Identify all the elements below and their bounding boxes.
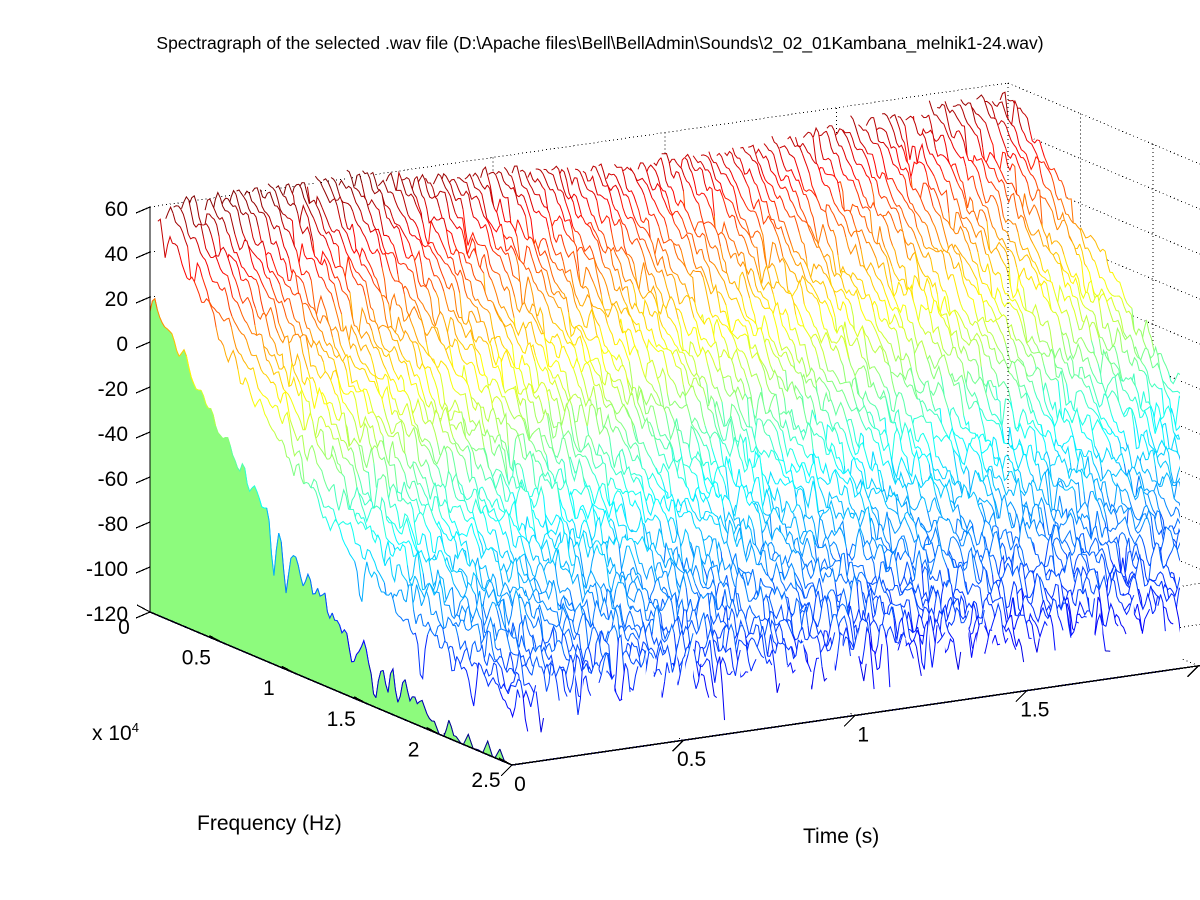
- time-tick-label: 0: [514, 773, 526, 796]
- time-axis-title: Time (s): [803, 825, 879, 849]
- frequency-tick-label: 0: [118, 616, 130, 639]
- frequency-tick-label: 1: [263, 677, 275, 700]
- z-tick-label: 40: [105, 243, 128, 266]
- time-tick-label: 0.5: [677, 748, 706, 771]
- frequency-tick-label: 0.5: [182, 647, 211, 670]
- time-tick-label: 1: [857, 723, 869, 746]
- z-tick-label: -80: [98, 513, 128, 536]
- frequency-tick-label: 2: [408, 738, 420, 761]
- frequency-axis-title: Frequency (Hz): [197, 812, 342, 836]
- z-tick-label: -40: [98, 423, 128, 446]
- frequency-tick-label: 1.5: [327, 708, 356, 731]
- z-tick-label: 60: [105, 198, 128, 221]
- x-exponent-base: x 10: [92, 722, 132, 745]
- z-tick-label: -60: [98, 468, 128, 491]
- x-axis-exponent: x 104: [92, 720, 139, 746]
- z-tick-label: 20: [105, 288, 128, 311]
- frequency-tick-label: 2.5: [471, 769, 500, 792]
- z-tick-label: -20: [98, 378, 128, 401]
- z-tick-label: 0: [116, 333, 128, 356]
- z-tick-label: -100: [86, 558, 128, 581]
- figure-window: Spectragraph of the selected .wav file (…: [0, 0, 1200, 900]
- spectrograph-3d-plot: -120-100-80-60-40-20020406000.511.522.50…: [0, 0, 1200, 900]
- x-exponent-power: 4: [132, 720, 139, 735]
- waterfall-surface: [150, 92, 1200, 765]
- time-tick-label: 1.5: [1020, 699, 1049, 722]
